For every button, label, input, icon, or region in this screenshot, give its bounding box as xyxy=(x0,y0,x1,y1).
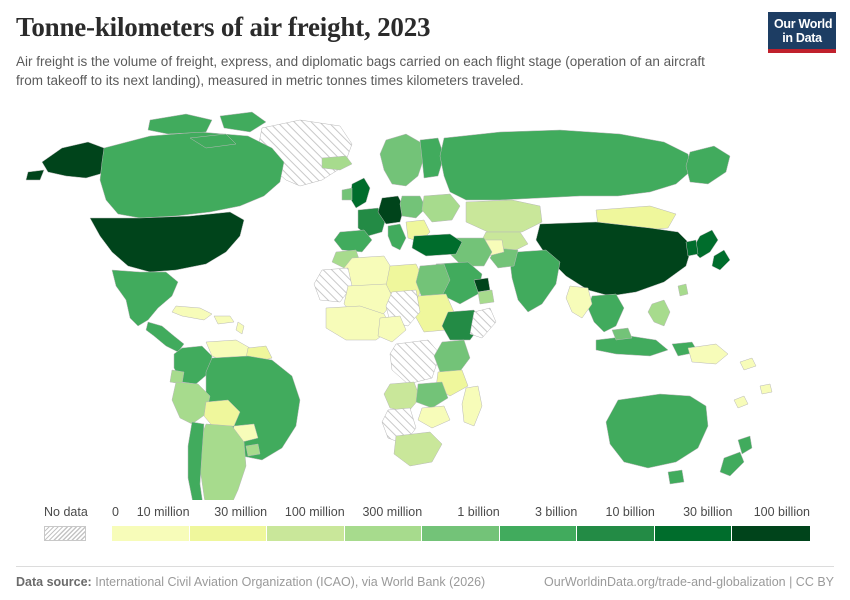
country-alaska[interactable] xyxy=(26,142,110,180)
owid-logo-line-2: in Data xyxy=(774,31,830,45)
country-nigeria[interactable] xyxy=(378,316,406,342)
country-korea[interactable] xyxy=(686,240,698,256)
country-indonesia[interactable] xyxy=(596,336,698,356)
country-uruguay[interactable] xyxy=(246,444,260,456)
country-taiwan[interactable] xyxy=(678,284,688,296)
country-papua-new-guinea[interactable] xyxy=(688,344,728,364)
country-united-kingdom[interactable] xyxy=(350,178,370,208)
data-source-line: Data source: International Civil Aviatio… xyxy=(16,575,485,589)
legend-gradient-bar[interactable] xyxy=(112,526,810,541)
country-fiji[interactable] xyxy=(760,384,772,394)
country-zimbabwe[interactable] xyxy=(418,406,450,428)
country-japan[interactable] xyxy=(692,230,730,270)
country-madagascar[interactable] xyxy=(462,386,482,426)
page-title: Tonne-kilometers of air freight, 2023 xyxy=(16,12,746,43)
country-australia[interactable] xyxy=(606,394,708,468)
country-new-caledonia[interactable] xyxy=(734,396,748,408)
data-source-label: Data source: xyxy=(16,575,92,589)
world-map-container[interactable] xyxy=(0,100,850,500)
legend-bucket-3[interactable] xyxy=(345,526,423,541)
legend-bucket-1[interactable] xyxy=(190,526,268,541)
country-india[interactable] xyxy=(510,250,560,312)
country-argentina[interactable] xyxy=(198,424,246,500)
owid-chart: Tonne-kilometers of air freight, 2023 Ai… xyxy=(0,0,850,600)
legend-bucket-2[interactable] xyxy=(267,526,345,541)
owid-logo[interactable]: Our World in Data xyxy=(768,12,836,53)
chart-subtitle: Air freight is the volume of freight, ex… xyxy=(16,52,728,90)
country-kenya[interactable] xyxy=(434,340,470,374)
country-spain[interactable] xyxy=(334,230,372,252)
country-zambia[interactable] xyxy=(416,382,448,408)
country-lesser-antilles[interactable] xyxy=(236,322,244,334)
country-solomon-islands[interactable] xyxy=(740,358,756,370)
country-somalia[interactable] xyxy=(470,308,496,338)
owid-logo-line-1: Our World xyxy=(774,17,830,31)
chart-header: Tonne-kilometers of air freight, 2023 Ai… xyxy=(16,12,746,90)
country-new-zealand[interactable] xyxy=(720,436,752,476)
data-source-text: International Civil Aviation Organizatio… xyxy=(95,575,485,589)
legend-bucket-4[interactable] xyxy=(422,526,500,541)
country-scandinavia[interactable] xyxy=(380,134,424,186)
legend-no-data-swatch[interactable] xyxy=(44,526,86,541)
country-russia-far-east[interactable] xyxy=(686,146,730,184)
country-iceland[interactable] xyxy=(322,156,352,170)
country-myanmar[interactable] xyxy=(566,286,592,318)
country-kazakhstan[interactable] xyxy=(466,200,542,232)
legend-tick-9: 100 billion xyxy=(0,505,810,519)
country-southeast-asia[interactable] xyxy=(588,294,624,332)
owid-url-license[interactable]: OurWorldinData.org/trade-and-globalizati… xyxy=(544,575,834,589)
country-united-states[interactable] xyxy=(90,212,244,272)
country-canada[interactable] xyxy=(100,132,284,218)
legend-bucket-6[interactable] xyxy=(577,526,655,541)
country-china[interactable] xyxy=(536,222,692,296)
country-mexico[interactable] xyxy=(112,270,178,326)
legend-bucket-8[interactable] xyxy=(732,526,810,541)
country-italy[interactable] xyxy=(388,224,406,250)
map-legend: No data 010 million30 million100 million… xyxy=(0,505,850,555)
country-ireland[interactable] xyxy=(342,188,352,200)
legend-bucket-5[interactable] xyxy=(500,526,578,541)
country-poland[interactable] xyxy=(400,196,426,218)
country-peru[interactable] xyxy=(172,382,210,424)
country-cuba[interactable] xyxy=(172,306,212,320)
country-hispaniola[interactable] xyxy=(214,316,234,324)
world-choropleth-map[interactable] xyxy=(0,100,850,500)
country-angola[interactable] xyxy=(384,382,420,412)
legend-bucket-0[interactable] xyxy=(112,526,190,541)
country-ukraine[interactable] xyxy=(422,194,460,222)
country-oman[interactable] xyxy=(478,290,494,304)
country-drc[interactable] xyxy=(390,340,440,384)
country-philippines[interactable] xyxy=(648,300,670,326)
country-tasmania[interactable] xyxy=(668,470,684,484)
legend-bucket-7[interactable] xyxy=(655,526,733,541)
chart-footer: Data source: International Civil Aviatio… xyxy=(16,566,834,574)
country-south-africa[interactable] xyxy=(394,432,442,466)
country-russia[interactable] xyxy=(440,130,692,200)
country-turkey[interactable] xyxy=(412,234,462,256)
country-central-america[interactable] xyxy=(146,322,184,352)
